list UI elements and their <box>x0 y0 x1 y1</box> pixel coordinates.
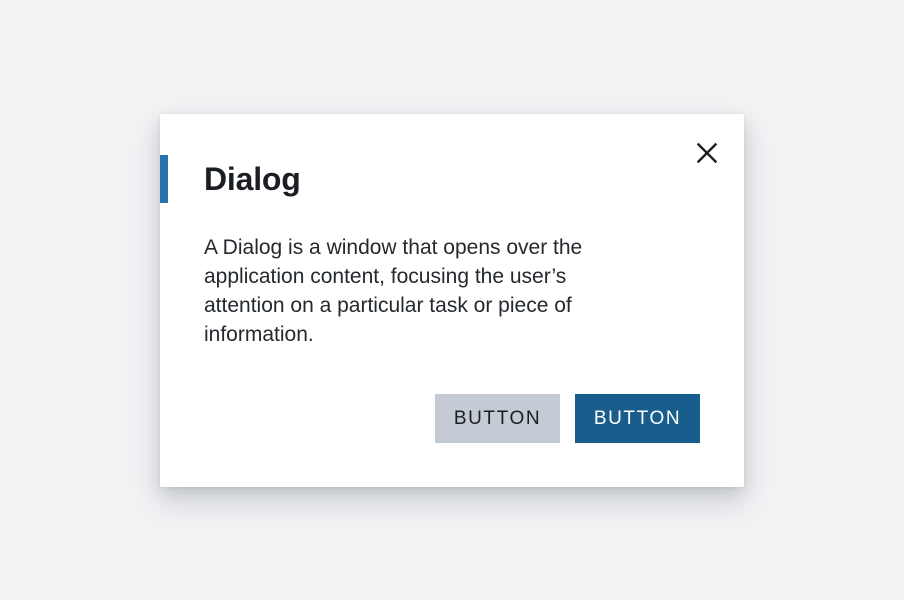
dialog: Dialog A Dialog is a window that opens o… <box>160 114 744 487</box>
dialog-accent-bar <box>160 155 168 203</box>
dialog-body-text: A Dialog is a window that opens over the… <box>204 233 634 349</box>
close-icon <box>696 142 718 164</box>
primary-button[interactable]: BUTTON <box>575 394 700 443</box>
dialog-title: Dialog <box>204 156 301 202</box>
dialog-action-bar: BUTTON BUTTON <box>160 394 744 443</box>
close-button[interactable] <box>679 125 735 181</box>
secondary-button[interactable]: BUTTON <box>435 394 560 443</box>
